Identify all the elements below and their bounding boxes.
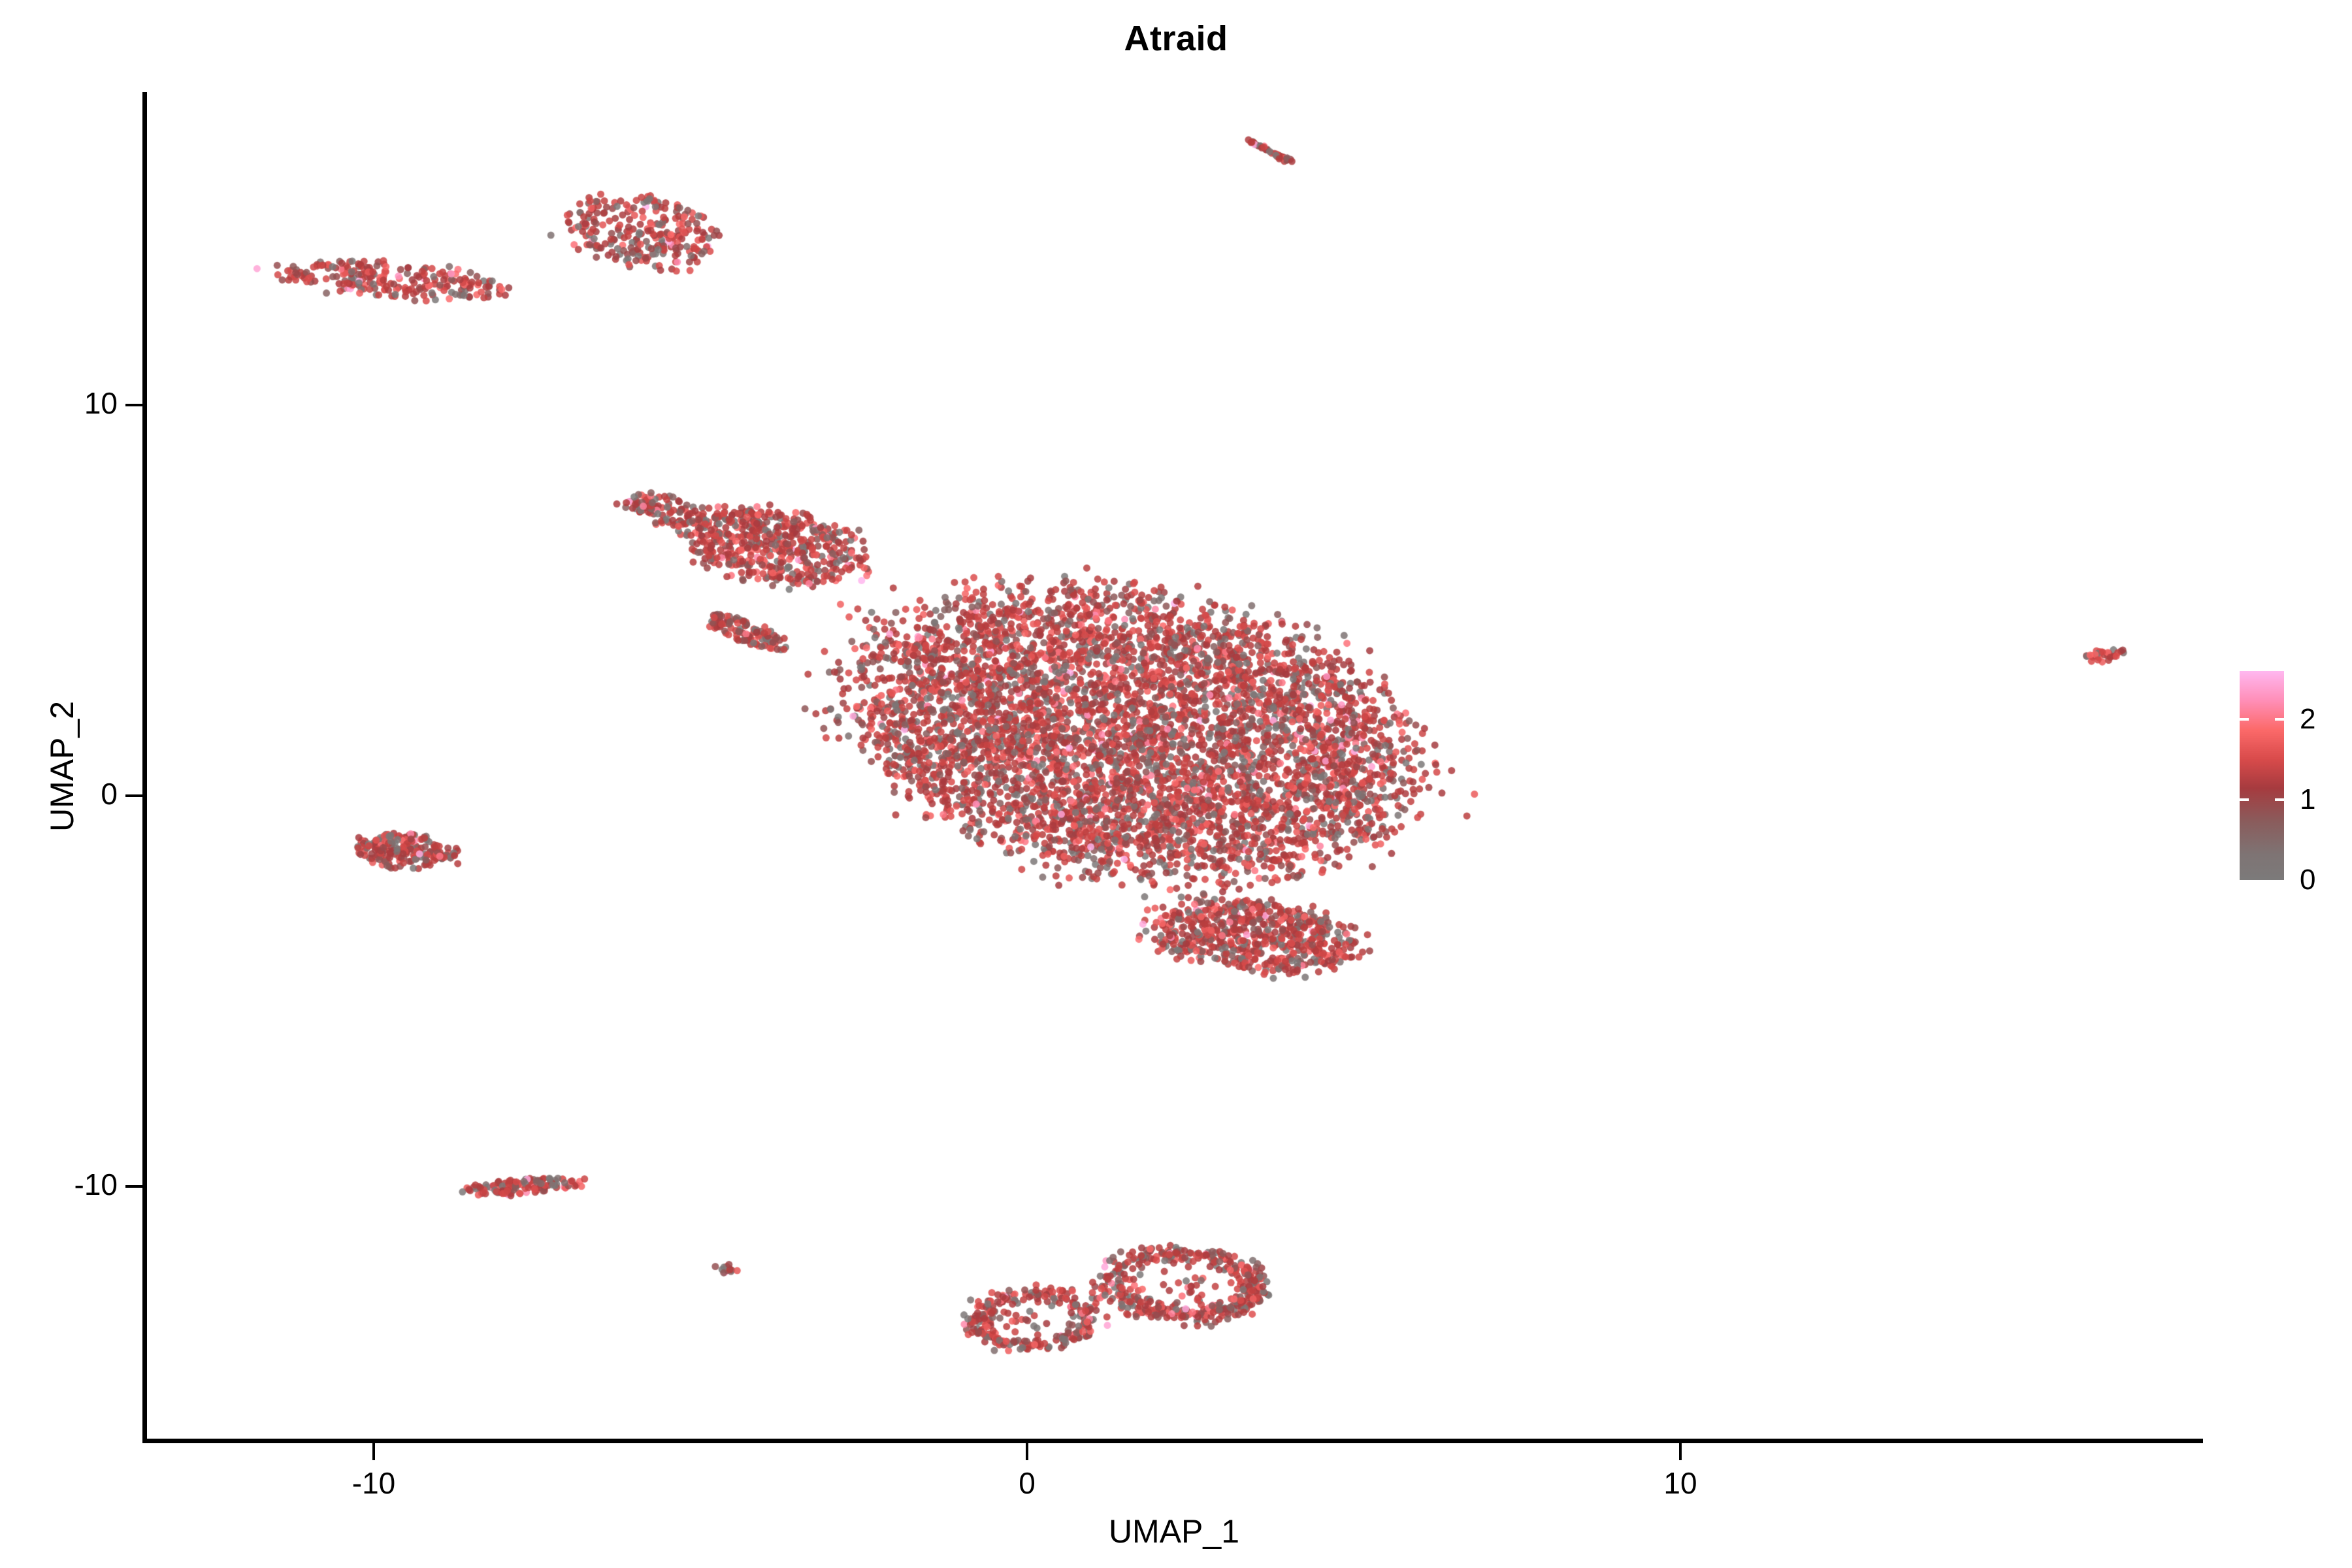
y-tick-mark	[125, 1185, 142, 1188]
page-title: Atraid	[0, 18, 2352, 59]
colorbar-tick-mark	[2240, 798, 2249, 801]
y-axis-line	[142, 92, 147, 1443]
y-tick-mark	[125, 794, 142, 797]
y-axis-label: UMAP_2	[43, 374, 81, 1158]
umap-feature-plot: Atraid -10010 100-10 UMAP_1 UMAP_2 210	[0, 0, 2352, 1568]
x-tick-label: -10	[308, 1465, 439, 1501]
colorbar-tick-label: 2	[2300, 705, 2315, 734]
colorbar-gradient	[2240, 671, 2284, 880]
x-tick-mark	[1679, 1443, 1682, 1460]
colorbar-tick-label: 0	[2300, 866, 2315, 894]
x-tick-label: 0	[962, 1465, 1092, 1501]
colorbar-tick-mark	[2240, 718, 2249, 721]
color-legend: 210	[2240, 671, 2284, 880]
x-axis-label: UMAP_1	[145, 1512, 2203, 1550]
y-tick-mark	[125, 404, 142, 406]
colorbar-tick-mark	[2275, 718, 2284, 721]
plot-panel	[145, 92, 2203, 1441]
x-axis-line	[142, 1439, 2203, 1443]
y-tick-label: -10	[0, 1167, 118, 1202]
x-tick-mark	[1026, 1443, 1028, 1460]
colorbar-tick-mark	[2275, 798, 2284, 801]
x-tick-label: 10	[1615, 1465, 1746, 1501]
x-tick-mark	[372, 1443, 375, 1460]
colorbar-tick-label: 1	[2300, 785, 2315, 814]
